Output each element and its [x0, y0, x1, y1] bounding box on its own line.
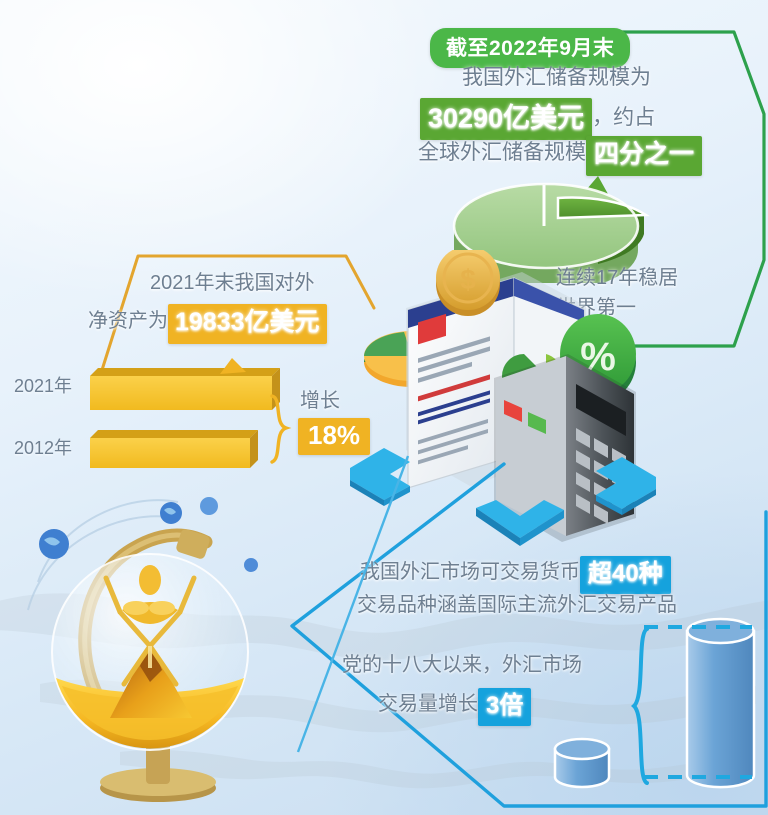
volume-dash-bottom [644, 775, 752, 779]
volume-cylinder-small [551, 737, 613, 791]
svg-text:$: $ [460, 264, 476, 295]
green-line-1: 我国外汇储备规模为 [462, 64, 651, 92]
amber-line-2-head: 净资产为 [88, 310, 168, 332]
green-line-2-tail: ，约占 [592, 106, 655, 129]
amber-line-1: 2021年末我国对外 [150, 270, 315, 297]
green-date-pill: 截至2022年9月末 [430, 28, 630, 68]
bar-label-2021: 2021年 [14, 372, 72, 398]
currency-count-badge: 超40种 [580, 556, 671, 594]
bar-2021 [90, 368, 280, 410]
blue-leader-line [290, 452, 420, 772]
volume-growth-brace [631, 626, 653, 786]
net-assets-badge: 19833亿美元 [168, 304, 327, 344]
gold-globe-hourglass-icon [10, 470, 300, 810]
volume-dash-top [644, 625, 752, 629]
green-line-3-head: 全球外汇储备规模 [418, 141, 586, 164]
dollar-coin-icon: $ [436, 250, 500, 316]
bar-label-2012: 2012年 [14, 434, 72, 460]
reserve-amount-badge: 30290亿美元 [420, 98, 592, 140]
volume-cylinder-large [683, 617, 758, 792]
volume-multiple-badge: 3倍 [478, 688, 531, 726]
infographic-canvas: 截至2022年9月末 我国外汇储备规模为 30290亿美元，约占 全球外汇储备规… [0, 0, 768, 815]
bar-2012 [90, 430, 258, 468]
amber-line-2: 净资产为19833亿美元 [88, 304, 327, 344]
green-line-2: 30290亿美元，约占 [420, 98, 655, 140]
growth-label: 增长 [300, 388, 340, 415]
